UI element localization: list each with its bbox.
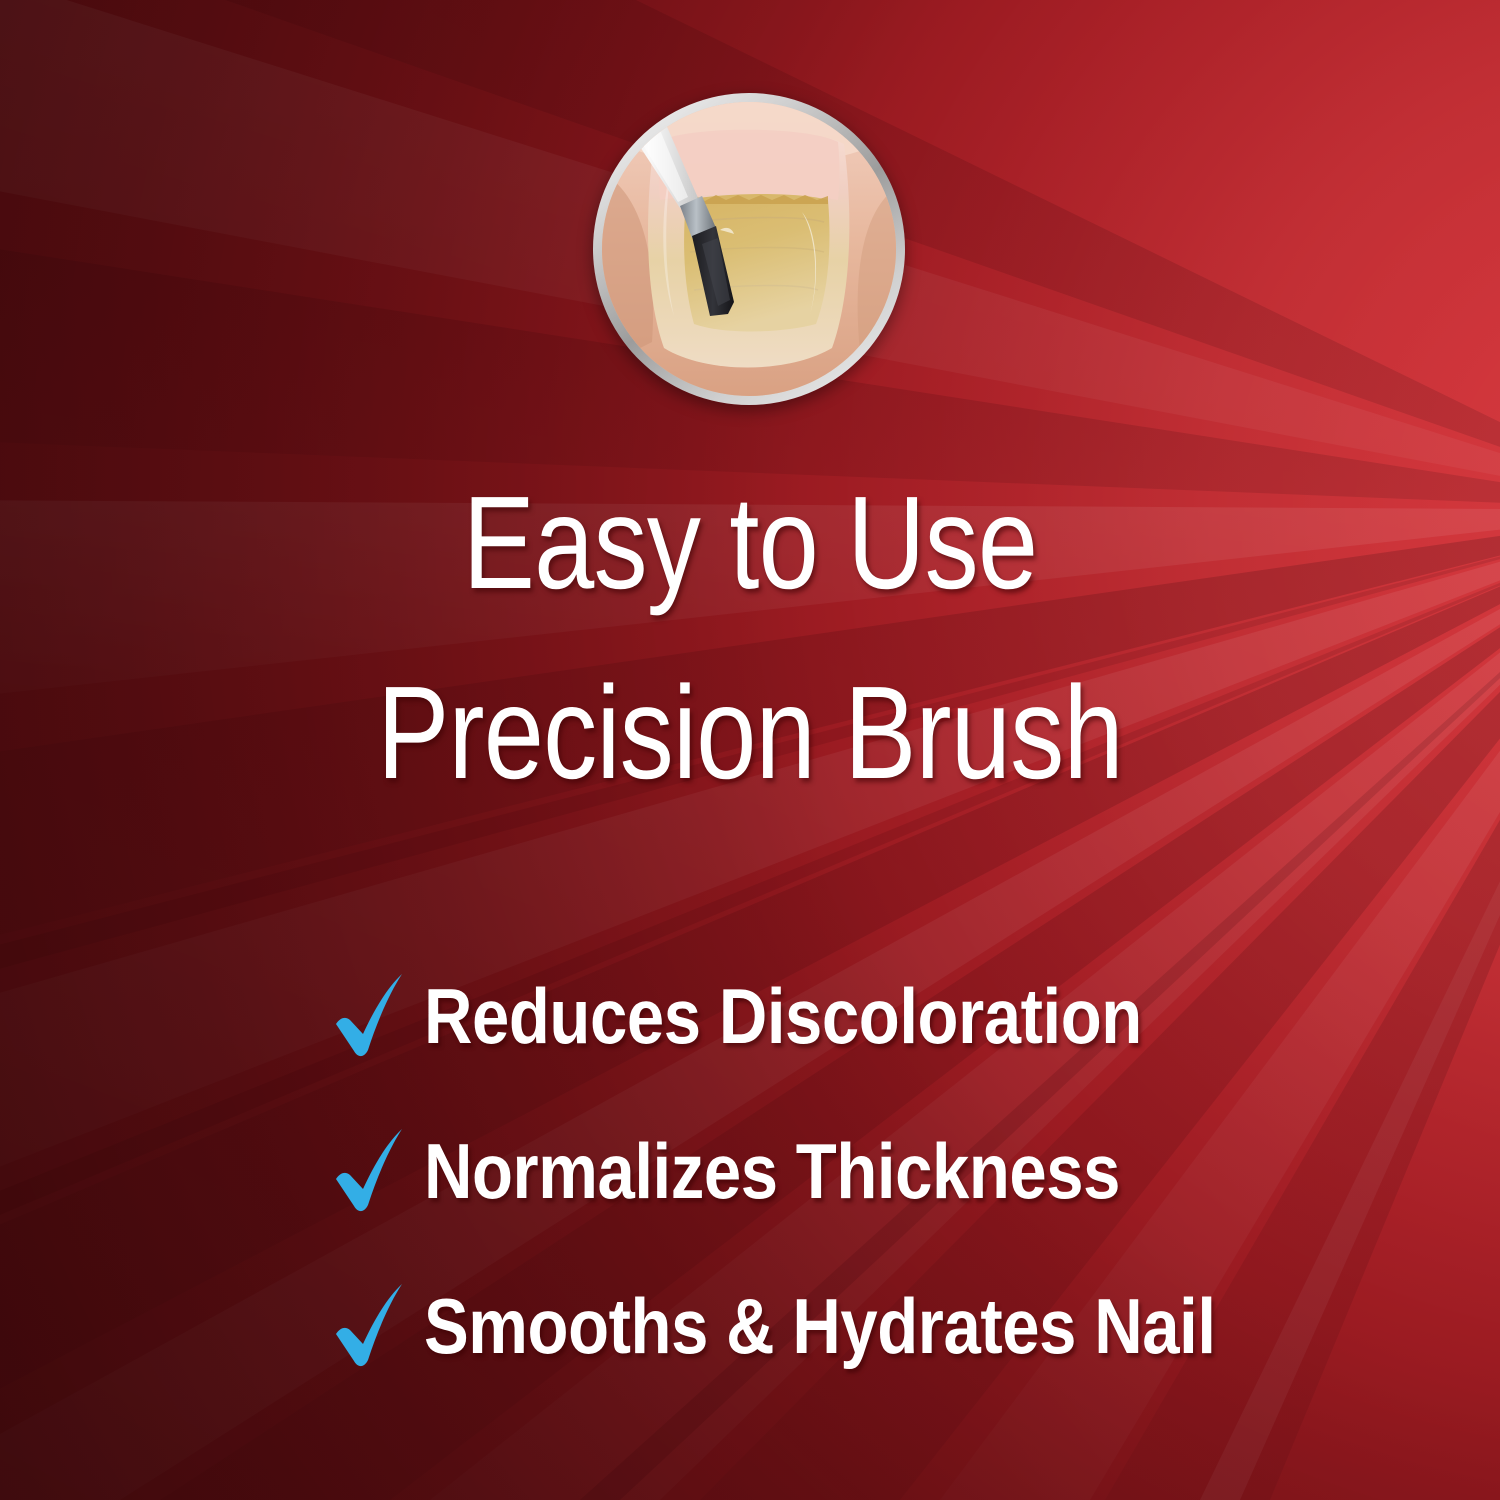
- check-icon: [334, 1127, 408, 1215]
- page-title: Easy to Use Precision Brush: [135, 448, 1365, 828]
- product-photo-frame: [593, 93, 905, 405]
- benefits-list: Reduces Discoloration Normalizes Thickne…: [334, 938, 1234, 1403]
- check-icon: [334, 1282, 408, 1370]
- benefit-label: Normalizes Thickness: [424, 1132, 1120, 1210]
- headline-line-2: Precision Brush: [135, 638, 1365, 828]
- list-item: Smooths & Hydrates Nail: [334, 1248, 1234, 1403]
- promo-poster: Easy to Use Precision Brush Reduces Disc…: [0, 0, 1500, 1500]
- benefit-label: Smooths & Hydrates Nail: [424, 1287, 1216, 1365]
- list-item: Normalizes Thickness: [334, 1093, 1234, 1248]
- check-icon: [334, 972, 408, 1060]
- headline-line-1: Easy to Use: [135, 448, 1365, 638]
- benefit-label: Reduces Discoloration: [424, 977, 1142, 1055]
- toenail-with-brush-photo: [602, 102, 896, 396]
- list-item: Reduces Discoloration: [334, 938, 1234, 1093]
